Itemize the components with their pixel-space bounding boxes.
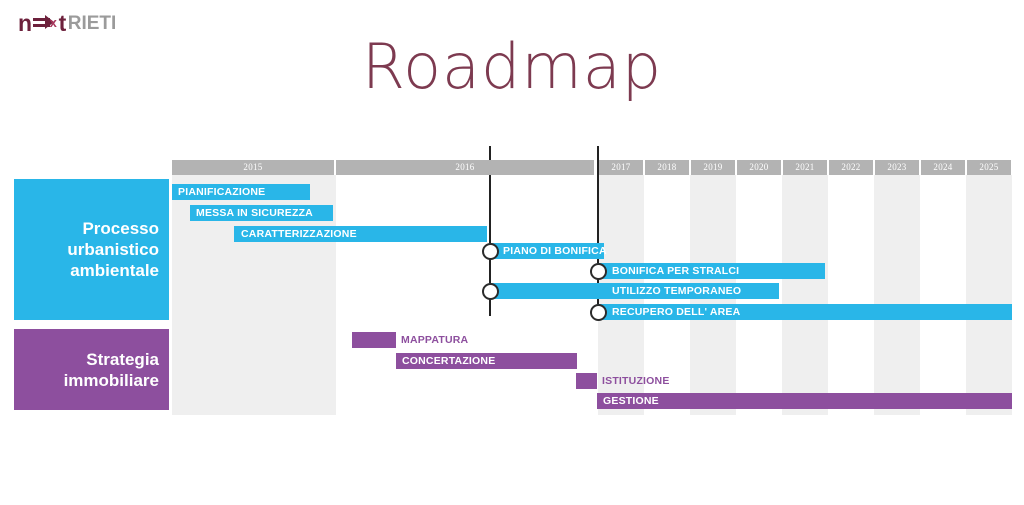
year-header-2017: 2017	[599, 160, 643, 175]
milestone-marker-bonifica-per-stralci[interactable]	[590, 263, 607, 280]
task-label-gestione: GESTIONE	[603, 393, 659, 409]
milestone-marker-recupero-dell-area[interactable]	[590, 304, 607, 321]
milestone-marker-piano-di-bonifica[interactable]	[482, 243, 499, 260]
task-label-pianificazione: PIANIFICAZIONE	[178, 184, 265, 200]
year-header-2021: 2021	[783, 160, 827, 175]
year-header-2024: 2024	[921, 160, 965, 175]
task-label-messa-in-sicurezza: MESSA IN SICUREZZA	[196, 205, 313, 221]
column-band-2023	[874, 175, 920, 415]
year-header-2023: 2023	[875, 160, 919, 175]
year-header-2018: 2018	[645, 160, 689, 175]
year-header-2025: 2025	[967, 160, 1011, 175]
task-label-concertazione: CONCERTAZIONE	[402, 353, 495, 369]
task-bar-istituzione[interactable]	[576, 373, 597, 389]
task-label-mappatura: MAPPATURA	[401, 332, 468, 348]
task-bar-gestione[interactable]	[597, 393, 1012, 409]
task-label-utilizzo-temporaneo: UTILIZZO TEMPORANEO	[612, 283, 741, 299]
year-header-2022: 2022	[829, 160, 873, 175]
category-line-3: ambientale	[70, 260, 159, 281]
year-header-2020: 2020	[737, 160, 781, 175]
task-label-piano-di-bonifica: PIANO DI BONIFICA	[503, 243, 607, 259]
task-label-istituzione: ISTITUZIONE	[602, 373, 670, 389]
task-label-recupero-dell-area: RECUPERO DELL' AREA	[612, 304, 740, 320]
category-line-1: Processo	[82, 218, 159, 239]
category-label-processo-urbanistico-ambientale: Processo urbanistico ambientale	[14, 179, 169, 320]
task-label-caratterizzazione: CARATTERIZZAZIONE	[241, 226, 357, 242]
column-band-2025	[966, 175, 1012, 415]
year-header-2019: 2019	[691, 160, 735, 175]
task-label-bonifica-per-stralci: BONIFICA PER STRALCI	[612, 263, 739, 279]
category-line-2: immobiliare	[64, 370, 159, 391]
column-band-2021	[782, 175, 828, 415]
category-label-strategia-immobiliare: Strategia immobiliare	[14, 329, 169, 410]
year-header-2016: 2016	[336, 160, 594, 175]
task-bar-mappatura[interactable]	[352, 332, 396, 348]
roadmap-gantt-chart: 2015 2016 2017 2018 2019 2020 2021 2022 …	[0, 0, 1024, 505]
category-line-1: Strategia	[86, 349, 159, 370]
year-header-2015: 2015	[172, 160, 334, 175]
milestone-marker-utilizzo-temporaneo[interactable]	[482, 283, 499, 300]
category-line-2: urbanistico	[67, 239, 159, 260]
